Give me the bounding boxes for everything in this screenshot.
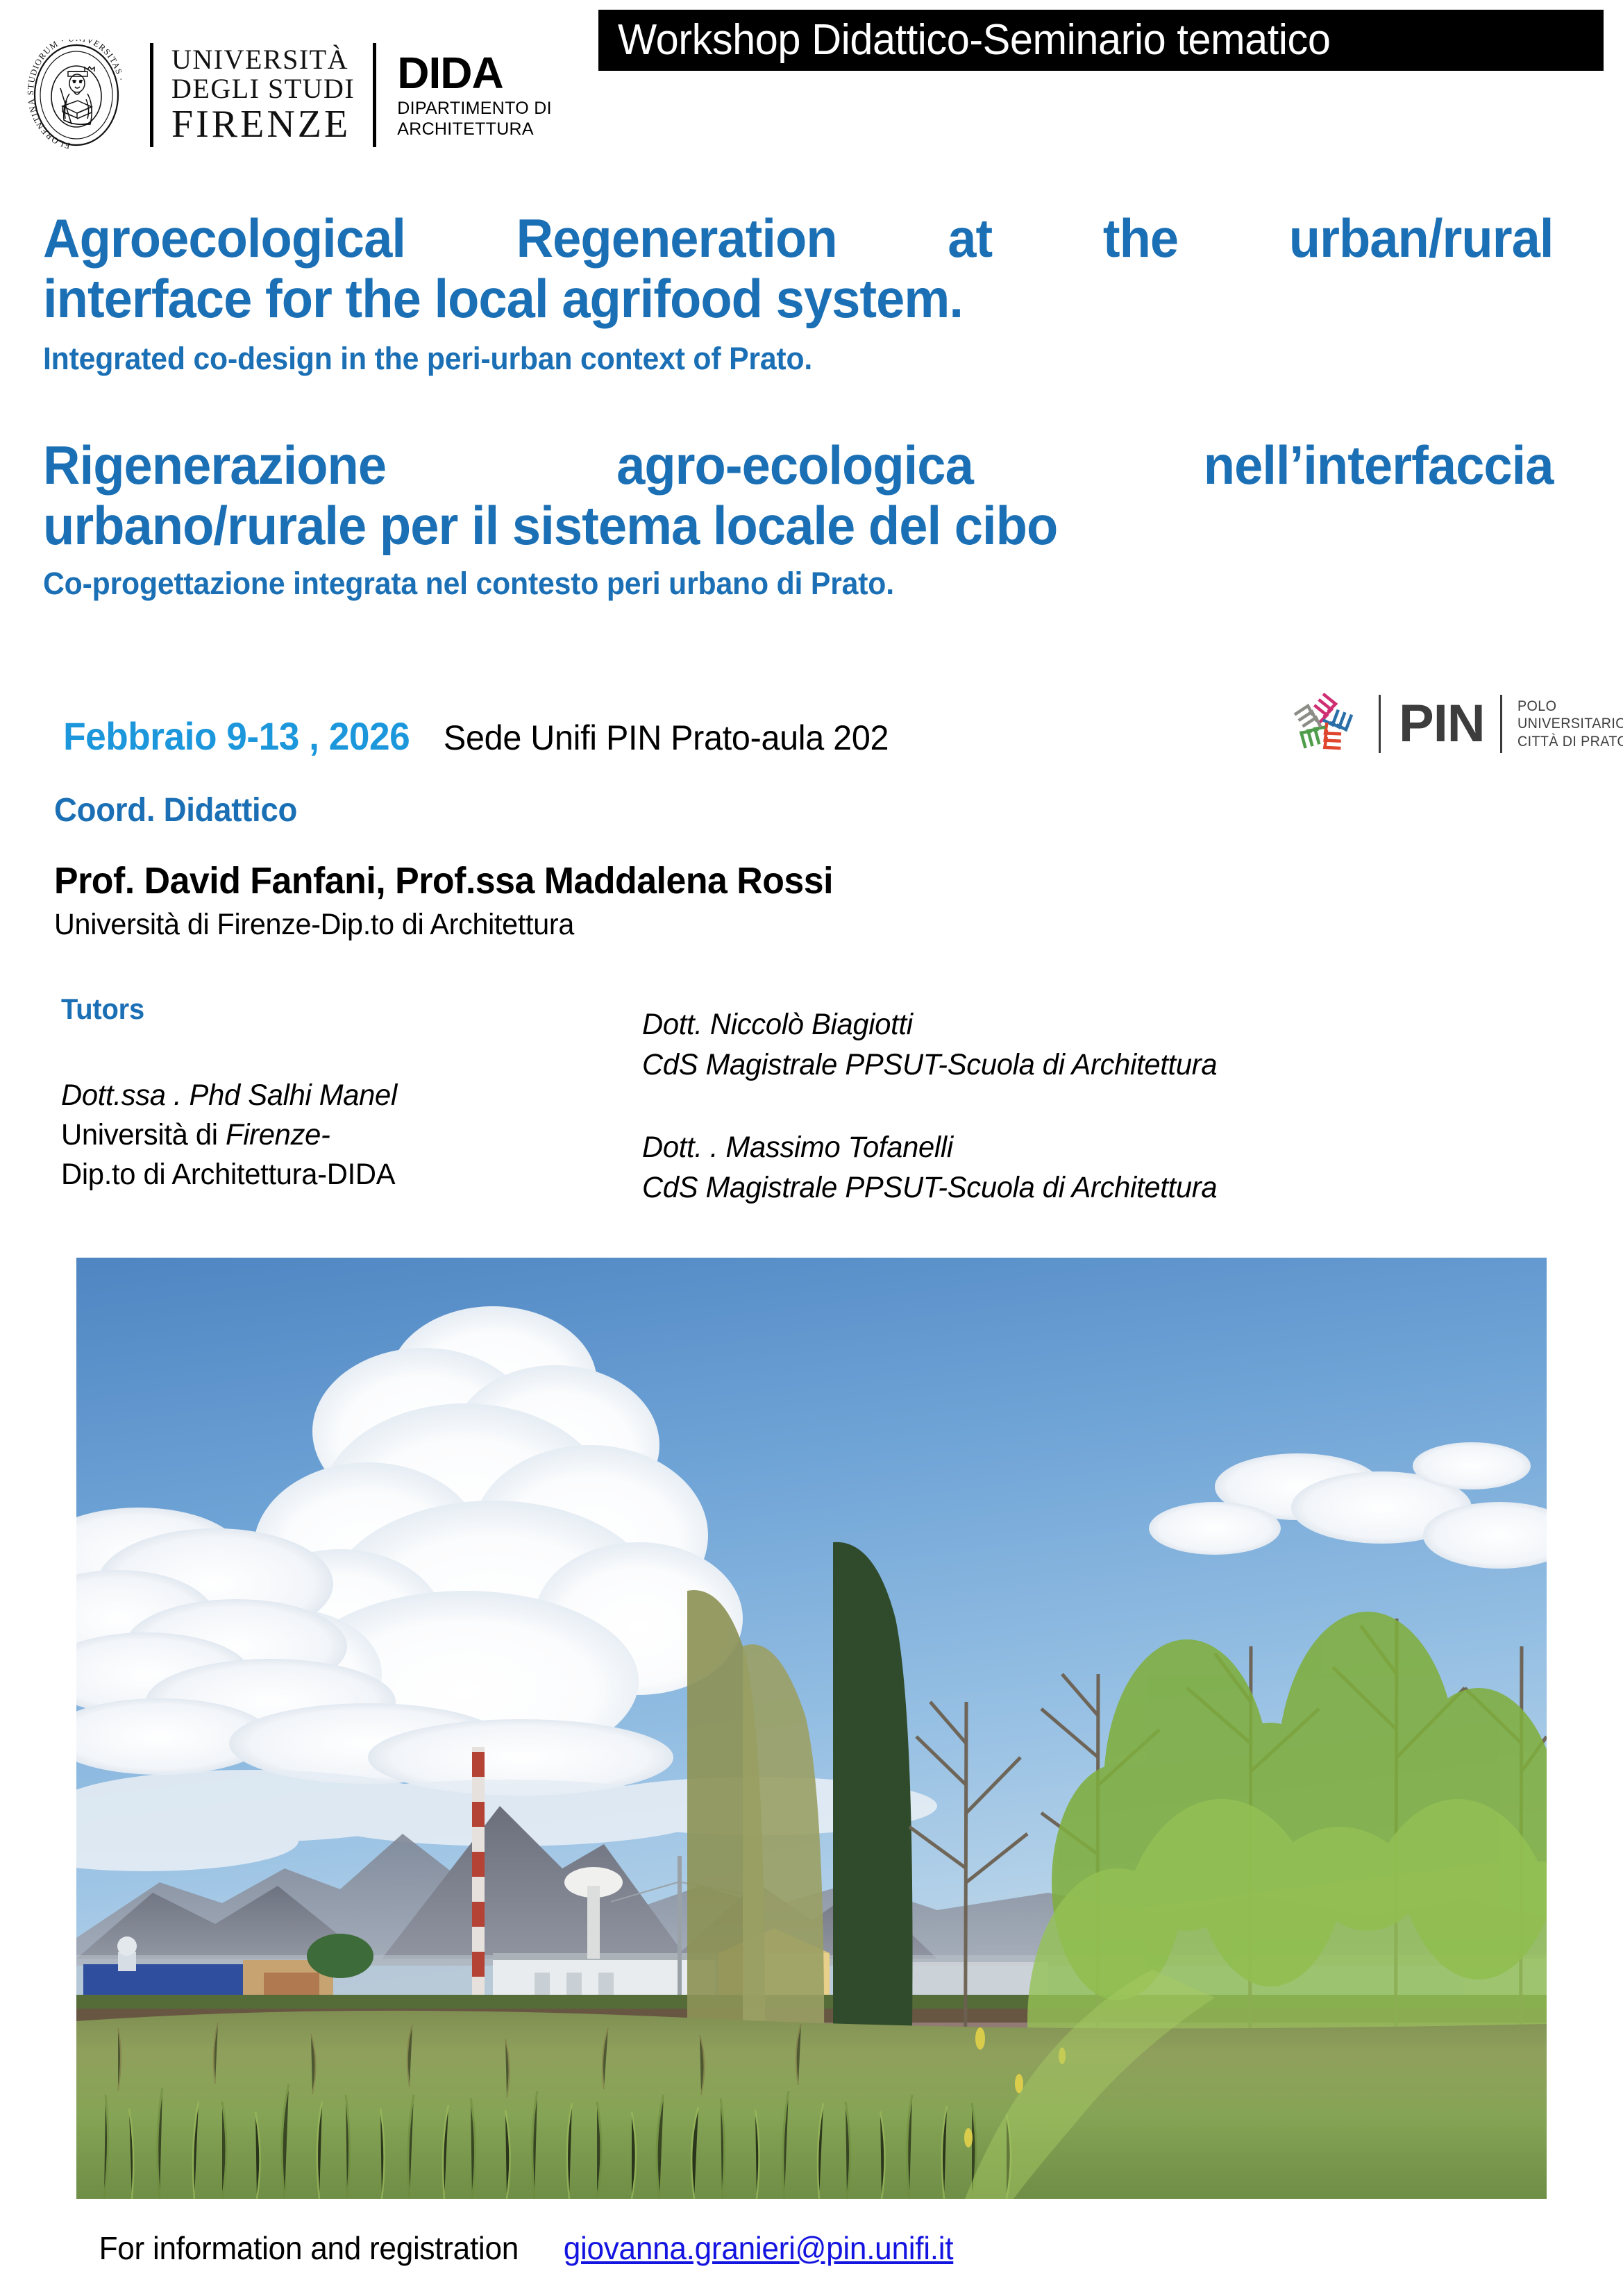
unifi-line-1: UNIVERSITÀ: [171, 45, 355, 74]
poster-root: FLORENTINA STUDIORUM · UNIVERSITAS ·: [0, 0, 1623, 2296]
dida-subtitle: DIPARTIMENTO DI ARCHITETTURA: [397, 99, 552, 140]
pin-sub-line-1: POLO: [1517, 698, 1623, 715]
tutor-affiliation: CdS Magistrale PPSUT-Scuola di Architett…: [642, 1168, 1517, 1208]
logo-divider-1: [150, 43, 153, 147]
tutor-affiliation: CdS Magistrale PPSUT-Scuola di Architett…: [642, 1045, 1517, 1086]
pin-subtitle: POLO UNIVERSITARIO CITTÀ DI PRATO: [1517, 698, 1623, 750]
professors-affiliation: Università di Firenze-Dip.to di Architet…: [54, 908, 833, 942]
title-italian-wrap: Rigenerazione agro-ecologica nell’interf…: [43, 435, 1577, 602]
pin-logo: PIN POLO UNIVERSITARIO CITTÀ DI PRATO: [1286, 686, 1623, 762]
title-italian: Rigenerazione agro-ecologica nell’interf…: [43, 435, 1554, 557]
footer: For information and registration giovann…: [90, 2229, 961, 2267]
professors-block: Prof. David Fanfani, Prof.ssa Maddalena …: [54, 859, 866, 942]
dida-sub-line-2: ARCHITETTURA: [397, 119, 552, 140]
title-italian-line-1: Rigenerazione agro-ecologica nell’interf…: [43, 435, 1554, 496]
title-english-line-2: interface for the local agrifood system.: [43, 269, 1554, 329]
pin-sub-line-3: CITTÀ DI PRATO: [1517, 733, 1623, 750]
contact-email-link[interactable]: giovanna.granieri@pin.unifi.it: [563, 2229, 953, 2267]
pin-divider-2: [1500, 695, 1502, 753]
footer-info-label: For information and registration: [99, 2229, 519, 2267]
workshop-banner: Workshop Didattico-Seminario tematico: [598, 10, 1604, 71]
poster-header: FLORENTINA STUDIORUM · UNIVERSITAS ·: [0, 0, 1623, 194]
svg-text:FLORENTINA STUDIORUM · UNIVERS: FLORENTINA STUDIORUM · UNIVERSITAS ·: [26, 40, 126, 151]
event-date: Febbraio 9-13 , 2026: [63, 714, 410, 759]
professors-names: Prof. David Fanfani, Prof.ssa Maddalena …: [54, 859, 833, 902]
tutor-entry: Dott. . Massimo Tofanelli CdS Magistrale…: [642, 1128, 1545, 1208]
tutor-left-block: Dott.ssa . Phd Salhi Manel Università di…: [61, 1076, 603, 1194]
tutor-right-block: Dott. Niccolò Biagiotti CdS Magistrale P…: [642, 1005, 1545, 1251]
unifi-line-3: FIRENZE: [171, 104, 355, 145]
title-english-line-1: Agroecological Regeneration at the urban…: [43, 208, 1554, 269]
pin-divider-1: [1379, 695, 1381, 753]
tutor-name: Dott. . Massimo Tofanelli: [642, 1128, 1517, 1168]
tutor-left-name: Dott.ssa . Phd Salhi Manel: [61, 1076, 587, 1115]
dida-sub-line-1: DIPARTIMENTO DI: [397, 99, 552, 119]
tutor-left-affiliation-line-2: Dip.to di Architettura-DIDA: [61, 1155, 587, 1195]
workshop-banner-text: Workshop Didattico-Seminario tematico: [618, 19, 1330, 62]
dida-acronym: DIDA: [397, 51, 552, 95]
dida-wordmark: DIDA DIPARTIMENTO DI ARCHITETTURA: [397, 51, 552, 140]
pin-wordmark: PIN: [1399, 698, 1485, 750]
subtitle-english: Integrated co-design in the peri-urban c…: [43, 341, 1501, 377]
tutor-left-aff-italic: Firenze-: [226, 1118, 330, 1151]
unifi-dida-logo: FLORENTINA STUDIORUM · UNIVERSITAS ·: [21, 15, 552, 175]
event-date-row: Febbraio 9-13 , 2026 Sede Unifi PIN Prat…: [54, 714, 896, 759]
unifi-wordmark: UNIVERSITÀ DEGLI STUDI FIRENZE: [171, 45, 355, 145]
tutor-entry: Dott. Niccolò Biagiotti CdS Magistrale P…: [642, 1005, 1545, 1085]
landscape-photo-illustration: [76, 1258, 1547, 2199]
title-italian-line-2: urbano/rurale per il sistema locale del …: [43, 496, 1554, 556]
title-block: Agroecological Regeneration at the urban…: [43, 208, 1577, 602]
landscape-photo: [76, 1258, 1547, 2199]
event-venue: Sede Unifi PIN Prato-aula 202: [444, 718, 889, 758]
title-english: Agroecological Regeneration at the urban…: [43, 208, 1554, 330]
unifi-seal-icon: FLORENTINA STUDIORUM · UNIVERSITAS ·: [21, 40, 132, 151]
pin-pinwheel-icon: [1286, 686, 1361, 761]
subtitle-italian: Co-progettazione integrata nel contesto …: [43, 566, 1501, 602]
tutor-left-affiliation-line-1: Università di Firenze-: [61, 1115, 587, 1155]
tutors-label: Tutors: [61, 993, 144, 1026]
coordination-label: Coord. Didattico: [54, 791, 297, 829]
unifi-line-2: DEGLI STUDI: [171, 74, 355, 103]
logo-divider-2: [373, 43, 376, 147]
pin-sub-line-2: UNIVERSITARIO: [1517, 715, 1623, 732]
tutor-name: Dott. Niccolò Biagiotti: [642, 1005, 1517, 1045]
tutor-left-aff-plain: Università di: [61, 1118, 226, 1151]
